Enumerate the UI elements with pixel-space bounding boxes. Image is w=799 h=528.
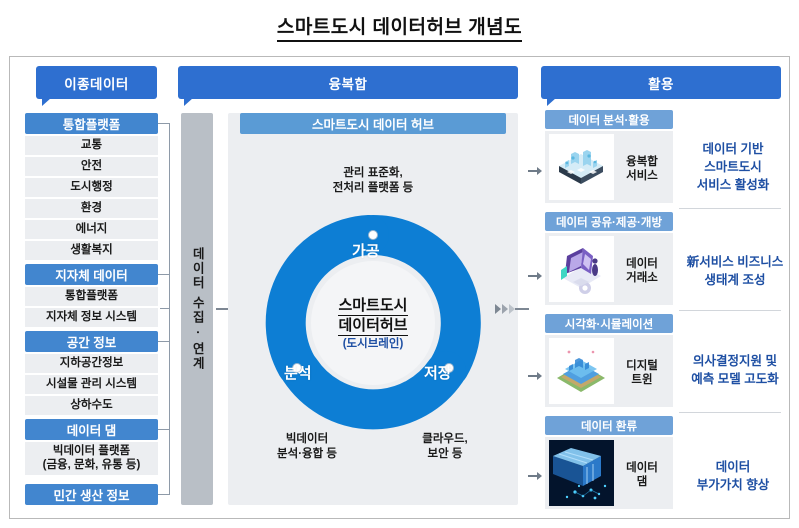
connector-spine bbox=[169, 123, 170, 495]
list-item-label: 빅데이터 플랫폼 (금융, 문화, 유통 등) bbox=[43, 445, 141, 471]
right-row-outcome-2: 新서비스 비즈니스 생태계 조성 bbox=[679, 253, 791, 289]
list-item[interactable]: 환경 bbox=[25, 199, 158, 218]
list-item-label: 지하공간정보 bbox=[60, 357, 123, 370]
hub-note-left: 빅데이터 분석·융합 등 bbox=[252, 432, 362, 462]
arrow-to-row-4 bbox=[528, 472, 542, 480]
list-item[interactable]: 지하공간정보 bbox=[25, 354, 158, 373]
group-head-integrated-platform[interactable]: 통합플랫폼 bbox=[25, 113, 158, 134]
data-collection-bar: 데이터 수집 · 연계 bbox=[181, 113, 213, 505]
arrow-triangle-icon bbox=[537, 272, 542, 280]
group-head-data-dam[interactable]: 데이터 댐 bbox=[25, 419, 158, 440]
arrow-line bbox=[515, 308, 529, 309]
donut-label-analysis: 분석 bbox=[284, 362, 312, 383]
list-item-label: 안전 bbox=[81, 160, 102, 173]
right-row-head-label: 데이터 분석·활용 bbox=[568, 112, 649, 128]
data-collection-label: 데이터 수집 · 연계 bbox=[191, 247, 204, 371]
group-head-label: 데이터 댐 bbox=[67, 420, 116, 439]
group-head-local-government-data[interactable]: 지자체 데이터 bbox=[25, 264, 158, 285]
arrow-to-row-3 bbox=[528, 372, 542, 380]
group-head-label: 통합플랫폼 bbox=[63, 114, 121, 133]
donut-label-storage: 저장 bbox=[424, 362, 452, 383]
arrow-line bbox=[528, 275, 537, 276]
isometric-laptop-exchange-icon bbox=[549, 236, 614, 302]
right-row-card-label-4: 데이터 댐 bbox=[614, 461, 670, 490]
banner-left-tail bbox=[42, 98, 51, 106]
right-row-outcome-4: 데이터 부가가치 향상 bbox=[679, 458, 787, 494]
list-item[interactable]: 지자체 정보 시스템 bbox=[25, 308, 158, 327]
list-item[interactable]: 통합플랫폼 bbox=[25, 287, 158, 306]
right-row-outcome-3: 의사결정지원 및 예측 모델 고도화 bbox=[677, 352, 793, 388]
group-head-label: 공간 정보 bbox=[67, 332, 116, 351]
isometric-smart-city-icon bbox=[549, 134, 614, 200]
hub-core-text: 스마트도시 데이터허브 (도시브레인) bbox=[305, 296, 441, 352]
list-item-label: 도시행정 bbox=[70, 181, 112, 194]
group-head-label: 지자체 데이터 bbox=[55, 265, 127, 284]
arrow-line bbox=[528, 375, 537, 376]
list-item[interactable]: 시설물 관리 시스템 bbox=[25, 375, 158, 394]
arrow-to-row-1 bbox=[528, 167, 542, 175]
hub-note-top: 관리 표준화, 전처리 플랫폼 등 bbox=[288, 166, 458, 196]
donut-label-processing: 가공 bbox=[352, 240, 380, 261]
connector-main bbox=[160, 308, 170, 309]
arrow-line bbox=[528, 475, 537, 476]
right-row-head-3[interactable]: 시각화·시뮬레이션 bbox=[545, 314, 673, 333]
right-row-card-label-3: 디지털 트윈 bbox=[614, 359, 670, 388]
right-row-outcome-1: 데이터 기반 스마트도시 서비스 활성화 bbox=[679, 140, 787, 194]
hub-core-line3: (도시브레인) bbox=[305, 338, 441, 352]
list-item[interactable]: 도시행정 bbox=[25, 178, 158, 197]
outcome-divider bbox=[679, 310, 781, 311]
hub-core-line2: 데이터허브 bbox=[338, 317, 407, 336]
hub-note-right: 클라우드, 보안 등 bbox=[390, 432, 500, 462]
list-item[interactable]: 교통 bbox=[25, 136, 158, 155]
banner-right: 활용 bbox=[541, 66, 781, 99]
banner-center: 융복합 bbox=[178, 66, 518, 99]
list-item[interactable]: 빅데이터 플랫폼 (금융, 문화, 유통 등) bbox=[25, 442, 158, 475]
center-subheader-label: 스마트도시 데이터 허브 bbox=[312, 114, 434, 133]
arrow-triangle-icon bbox=[537, 167, 542, 175]
banner-left: 이종데이터 bbox=[36, 66, 157, 99]
banner-center-label: 융복합 bbox=[329, 73, 368, 93]
right-row-head-label: 데이터 환류 bbox=[581, 418, 637, 434]
arrow-triangle-icon bbox=[509, 304, 515, 314]
diagram-root: 스마트도시 데이터허브 개념도 이종데이터 융복합 활용 통합플랫폼 교통 안전… bbox=[0, 0, 799, 528]
right-row-head-4[interactable]: 데이터 환류 bbox=[545, 416, 673, 435]
list-item-label: 환경 bbox=[81, 202, 102, 215]
arrow-hub-to-use bbox=[494, 303, 529, 315]
banner-center-tail bbox=[184, 98, 193, 106]
banner-left-label: 이종데이터 bbox=[64, 73, 129, 93]
right-row-card-label-2: 데이터 거래소 bbox=[614, 257, 670, 286]
center-subheader: 스마트도시 데이터 허브 bbox=[240, 113, 506, 134]
group-head-private-production-info[interactable]: 민간 생산 정보 bbox=[25, 484, 158, 505]
arrow-triangle-icon bbox=[502, 304, 508, 314]
group-head-spatial-information[interactable]: 공간 정보 bbox=[25, 331, 158, 352]
right-row-head-2[interactable]: 데이터 공유·제공·개방 bbox=[545, 212, 673, 231]
list-item-label: 통합플랫폼 bbox=[65, 290, 118, 303]
right-row-head-label: 시각화·시뮬레이션 bbox=[565, 316, 653, 332]
list-item[interactable]: 상하수도 bbox=[25, 396, 158, 415]
list-item[interactable]: 에너지 bbox=[25, 220, 158, 239]
list-item-label: 생활복지 bbox=[70, 244, 112, 257]
arrow-triangle-icon bbox=[495, 304, 501, 314]
arrow-triangle-icon bbox=[537, 472, 542, 480]
list-item-label: 지자체 정보 시스템 bbox=[46, 311, 137, 324]
right-row-head-label: 데이터 공유·제공·개방 bbox=[556, 214, 662, 230]
list-item-label: 상하수도 bbox=[70, 399, 112, 412]
arrow-triangle-icon bbox=[537, 372, 542, 380]
right-row-card-label-1: 융복합 서비스 bbox=[614, 155, 670, 184]
list-item-label: 시설물 관리 시스템 bbox=[46, 378, 137, 391]
banner-right-tail bbox=[547, 98, 556, 106]
page-title-text: 스마트도시 데이터허브 개념도 bbox=[277, 17, 522, 42]
page-title: 스마트도시 데이터허브 개념도 bbox=[0, 12, 799, 39]
banner-right-label: 활용 bbox=[648, 73, 674, 93]
list-item-label: 에너지 bbox=[76, 223, 108, 236]
arrow-line bbox=[528, 170, 537, 171]
group-head-label: 민간 생산 정보 bbox=[54, 485, 130, 504]
hub-core-line1: 스마트도시 bbox=[338, 297, 407, 316]
list-item-label: 교통 bbox=[81, 139, 102, 152]
donut-joint-dot bbox=[369, 231, 378, 240]
list-item[interactable]: 안전 bbox=[25, 157, 158, 176]
list-item[interactable]: 생활복지 bbox=[25, 241, 158, 260]
isometric-digital-twin-icon bbox=[549, 338, 614, 404]
outcome-divider bbox=[679, 412, 781, 413]
outcome-divider bbox=[679, 208, 781, 209]
right-row-head-1[interactable]: 데이터 분석·활용 bbox=[545, 110, 673, 129]
data-dam-icon bbox=[549, 440, 614, 506]
arrow-to-row-2 bbox=[528, 272, 542, 280]
